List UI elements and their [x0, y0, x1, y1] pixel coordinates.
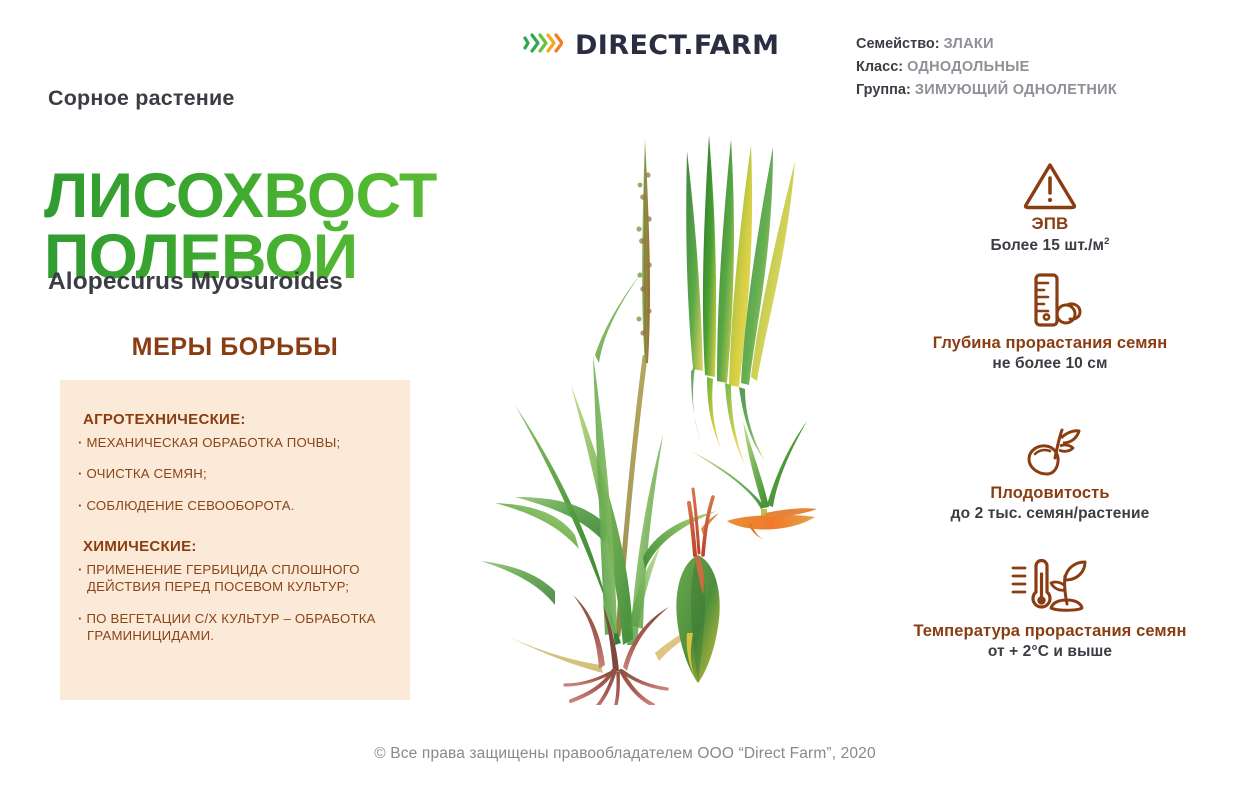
sprouting-seed-icon — [900, 418, 1200, 480]
title-line-1: ЛИСОХВОСТ — [44, 166, 514, 227]
thermometer-sprout-icon — [900, 556, 1200, 618]
fact-value: до 2 тыс. семян/растение — [900, 505, 1200, 523]
chem-measures-list: ПРИМЕНЕНИЕ ГЕРБИЦИДА СПЛОШНОГО ДЕЙСТВИЯ … — [78, 561, 398, 659]
warning-triangle-icon — [900, 148, 1200, 210]
copyright-footer: © Все права защищены правообладателем ОО… — [0, 745, 1250, 763]
list-item: ПРИМЕНЕНИЕ ГЕРБИЦИДА СПЛОШНОГО ДЕЙСТВИЯ … — [78, 561, 398, 596]
latin-name: Alopecurus Myosuroides — [48, 268, 343, 296]
fact-panel-fertility: Плодовитость до 2 тыс. семян/растение — [900, 418, 1200, 523]
meta-family-row: Семейство: ЗЛАКИ — [856, 33, 1117, 56]
agro-measures-heading: АГРОТЕХНИЧЕСКИЕ: — [83, 411, 246, 428]
meta-class-value: ОДНОДОЛЬНЫЕ — [907, 59, 1029, 75]
list-item: МЕХАНИЧЕСКАЯ ОБРАБОТКА ПОЧВЫ; — [78, 434, 398, 451]
meta-family-value: ЗЛАКИ — [944, 36, 994, 52]
fact-value: от + 2°С и выше — [900, 643, 1200, 661]
measures-heading: МЕРЫ БОРЬБЫ — [60, 333, 410, 362]
ruler-seeds-icon — [900, 268, 1200, 330]
chem-measures-heading: ХИМИЧЕСКИЕ: — [83, 538, 197, 555]
chevrons-icon — [523, 30, 563, 61]
meta-group-row: Группа: ЗИМУЮЩИЙ ОДНОЛЕТНИК — [856, 79, 1117, 102]
meta-group-label: Группа: — [856, 82, 911, 98]
seedling-tuft — [686, 135, 795, 465]
taxonomy-meta: Семейство: ЗЛАКИ Класс: ОДНОДОЛЬНЫЕ Груп… — [856, 33, 1117, 102]
brand-logo: DIRECT.FARM — [523, 30, 779, 61]
fact-value: Более 15 шт./м2 — [900, 236, 1200, 255]
fact-panel-depth: Глубина прорастания семян не более 10 см — [900, 268, 1200, 373]
fact-panel-epv: ЭПВ Более 15 шт./м2 — [900, 148, 1200, 255]
meta-class-row: Класс: ОДНОДОЛЬНЫЕ — [856, 56, 1117, 79]
fact-label: Плодовитость — [900, 484, 1200, 502]
meta-family-label: Семейство: — [856, 36, 940, 52]
infographic-poster: DIRECT.FARM Семейство: ЗЛАКИ Класс: ОДНО… — [0, 0, 1250, 800]
plant-illustration — [455, 105, 875, 705]
agro-measures-list: МЕХАНИЧЕСКАЯ ОБРАБОТКА ПОЧВЫ; ОЧИСТКА СЕ… — [78, 434, 398, 528]
fact-label: Температура прорастания семян — [900, 622, 1200, 640]
fact-value: не более 10 см — [900, 355, 1200, 373]
list-item: СОБЛЮДЕНИЕ СЕВООБОРОТА. — [78, 497, 398, 514]
fact-label: Глубина прорастания семян — [900, 334, 1200, 352]
meta-class-label: Класс: — [856, 59, 903, 75]
meta-group-value: ЗИМУЮЩИЙ ОДНОЛЕТНИК — [915, 82, 1117, 98]
list-item: ПО ВЕГЕТАЦИИ С/Х КУЛЬТУР – ОБРАБОТКА ГРА… — [78, 610, 398, 645]
fact-panel-temperature: Температура прорастания семян от + 2°С и… — [900, 556, 1200, 661]
brand-name: DIRECT.FARM — [575, 30, 779, 61]
kicker-label: Сорное растение — [48, 86, 235, 111]
list-item: ОЧИСТКА СЕМЯН; — [78, 465, 398, 482]
fact-label: ЭПВ — [900, 214, 1200, 233]
